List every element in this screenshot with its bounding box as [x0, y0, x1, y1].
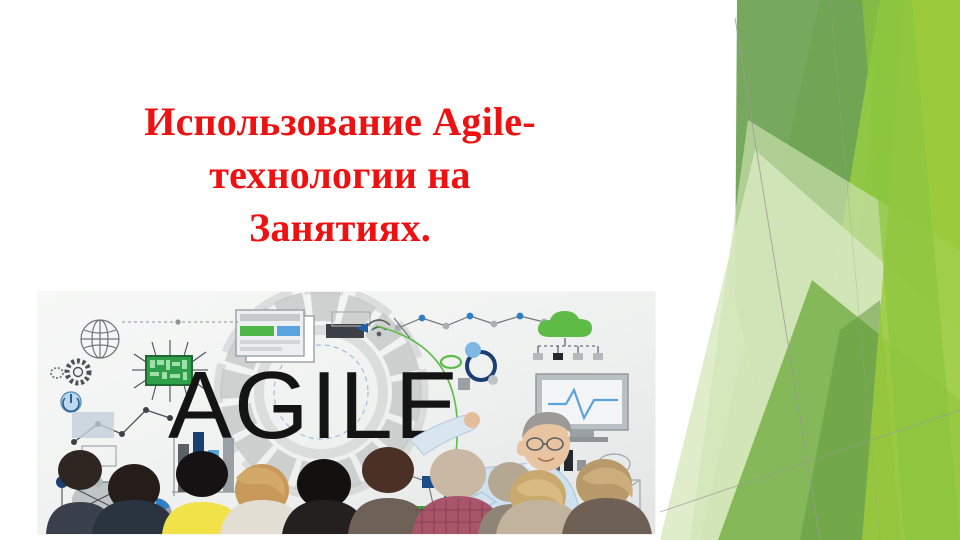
- power-button-icon: [61, 392, 81, 412]
- hairline-diagonal-1: [735, 18, 820, 540]
- hairline-diagonal-2: [660, 410, 960, 512]
- facet-lime-overlay: [862, 0, 960, 540]
- presentation-slide: Использование Agile- технологии на Занят…: [0, 0, 960, 540]
- page-title: Использование Agile- технологии на Занят…: [60, 96, 620, 254]
- facet-dark-green: [735, 0, 880, 540]
- hairline-diagonal-3: [830, 0, 880, 540]
- facet-bright-band: [862, 0, 960, 540]
- facet-dark-spike: [800, 300, 900, 540]
- agile-seminar-photo: AGILE: [38, 292, 655, 534]
- facet-pale-green-sweep: [690, 120, 960, 540]
- presenter-hand-upper: [464, 412, 480, 428]
- facet-pale-green-lower: [660, 150, 960, 540]
- facet-mid-green-bottom: [718, 280, 960, 540]
- facet-bright-green: [700, 0, 960, 540]
- globe-wireframe-icon: [81, 320, 119, 358]
- facet-lime-right: [836, 0, 960, 540]
- blue-dot-node: [465, 342, 481, 358]
